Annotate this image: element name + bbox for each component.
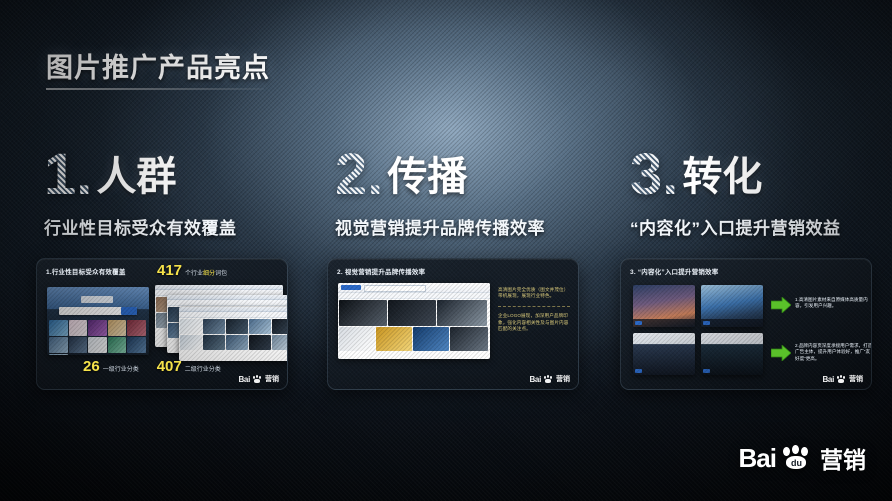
ad-tag-icon bbox=[635, 321, 642, 325]
headline-number-1: 1. bbox=[44, 148, 94, 202]
search-button-mockup bbox=[121, 307, 137, 315]
card-2-annotations: 高清图片完全优质（图文并茂位）带机展现，展现行业特色。 企业LOGO展现，加深用… bbox=[498, 287, 570, 332]
card-1-main-stat: 417 个行业细分词包 bbox=[157, 263, 227, 278]
logo-cn: 营销 bbox=[556, 374, 570, 384]
headline-subtitle-2: 视觉营销提升品牌传播效率 bbox=[335, 214, 545, 239]
card-3-text-1: 1.高清图片素材来自原媒体高质量内容，引发用户兴趣。 bbox=[795, 297, 872, 310]
baidu-logo-mockup bbox=[81, 296, 113, 303]
card-1-baidu-logo: Bai 营销 bbox=[238, 374, 279, 384]
card-3-reflection bbox=[620, 388, 870, 422]
browser-window-front bbox=[179, 307, 288, 361]
baidu-paw-icon: du bbox=[780, 445, 814, 472]
headline-number-2: 2. bbox=[335, 148, 385, 202]
stat-label: 二级行业分类 bbox=[185, 364, 221, 373]
headline-word-1: 人群 bbox=[96, 155, 176, 199]
logo-latin: Bai bbox=[238, 375, 250, 384]
content-panel-2 bbox=[701, 285, 763, 327]
baidu-paw-icon bbox=[836, 375, 847, 384]
feature-card-2[interactable]: 2. 视觉营销提升品牌传播效率 高清图片完全优质（图文并茂位）带机展现，展现行业… bbox=[327, 258, 579, 390]
baidu-brand-logo: Bai du 营销 bbox=[739, 441, 866, 475]
headline-subtitle-3: “内容化”入口提升营销效益 bbox=[630, 214, 841, 239]
card-1-reflection bbox=[36, 388, 286, 422]
logo-cn: 营销 bbox=[265, 374, 279, 384]
annotation-divider bbox=[498, 306, 570, 307]
headline-word-3: 转化 bbox=[682, 155, 762, 199]
card-2-title: 2. 视觉营销提升品牌传播效率 bbox=[337, 266, 425, 276]
annotation-2: 企业LOGO展现，加深用户品牌印象，强化内容相关性及与图片内容匹配的关注点。 bbox=[498, 313, 570, 332]
title-underline bbox=[46, 88, 264, 90]
green-arrow-right-icon-2 bbox=[771, 345, 791, 366]
logo-latin: Bai bbox=[822, 375, 834, 384]
panel-caption-bar bbox=[701, 319, 763, 327]
logo-latin: Bai bbox=[529, 375, 541, 384]
card-3-text-2: 2.品牌内容页深度承接用户需求，打造广告主体，提升用户体验好，推广“友好度”更高… bbox=[795, 343, 872, 362]
card-1-stats-row: 26 一级行业分类 407 二级行业分类 bbox=[83, 359, 221, 374]
card-1-stat-item-1: 26 一级行业分类 bbox=[83, 359, 139, 374]
content-panel-1 bbox=[633, 285, 695, 327]
headline-block-2: 2. 传播 视觉营销提升品牌传播效率 bbox=[335, 140, 545, 239]
headline-subtitle-1: 行业性目标受众有效覆盖 bbox=[44, 214, 237, 239]
serp-image-grid bbox=[338, 299, 490, 352]
stat-label: 一级行业分类 bbox=[103, 364, 139, 373]
stat-value: 407 bbox=[157, 359, 182, 374]
headline-number-3: 3. bbox=[630, 148, 680, 202]
feature-card-1[interactable]: 1.行业性目标受众有效覆盖 417 个行业细分词包 bbox=[36, 258, 288, 390]
green-arrow-right-icon-1 bbox=[771, 297, 791, 318]
content-panel-3 bbox=[633, 333, 695, 375]
window-image-grid bbox=[179, 318, 288, 351]
page-title: 图片推广产品亮点 bbox=[46, 46, 270, 85]
baidu-paw-icon bbox=[252, 375, 263, 384]
feature-card-3[interactable]: 3. “内容化”入口提升营销效率 1.高清图片素材来自 bbox=[620, 258, 872, 390]
card-3-baidu-logo: Bai 营销 bbox=[822, 374, 863, 384]
brand-cn: 营销 bbox=[820, 441, 866, 475]
headline-word-2: 传播 bbox=[387, 155, 467, 199]
baidu-image-search-mockup bbox=[47, 287, 149, 355]
card-1-stat-value: 417 bbox=[157, 263, 182, 278]
baidu-logo-mockup bbox=[341, 285, 361, 290]
card-1-stat-item-2: 407 二级行业分类 bbox=[157, 359, 221, 374]
card-1-title: 1.行业性目标受众有效覆盖 bbox=[46, 266, 126, 276]
card-1-stat-label: 个行业细分词包 bbox=[185, 268, 227, 277]
brand-latin: Bai bbox=[739, 443, 776, 474]
ad-tag-icon bbox=[635, 369, 642, 373]
content-panel-4 bbox=[701, 333, 763, 375]
baidu-paw-icon bbox=[543, 375, 554, 384]
headline-block-3: 3. 转化 “内容化”入口提升营销效益 bbox=[630, 140, 841, 239]
ad-tag-icon bbox=[703, 369, 710, 373]
presentation-slide: 图片推广产品亮点 1. 人群 行业性目标受众有效覆盖 2. 传播 视觉营销提升品… bbox=[0, 0, 892, 501]
annotation-1: 高清图片完全优质（图文并茂位）带机展现，展现行业特色。 bbox=[498, 287, 570, 299]
card-2-reflection bbox=[327, 388, 577, 422]
headline-block-1: 1. 人群 行业性目标受众有效覆盖 bbox=[44, 140, 237, 239]
card-3-title: 3. “内容化”入口提升营销效率 bbox=[630, 266, 718, 276]
thumbnail-grid bbox=[49, 320, 147, 355]
ad-tag-icon bbox=[703, 321, 710, 325]
serp-header bbox=[338, 283, 490, 293]
baidu-serp-mockup bbox=[338, 283, 490, 359]
panel-caption-bar bbox=[633, 319, 695, 327]
logo-cn: 营销 bbox=[849, 374, 863, 384]
stat-value: 26 bbox=[83, 359, 100, 374]
card-2-baidu-logo: Bai 营销 bbox=[529, 374, 570, 384]
search-input-mockup bbox=[364, 285, 426, 292]
